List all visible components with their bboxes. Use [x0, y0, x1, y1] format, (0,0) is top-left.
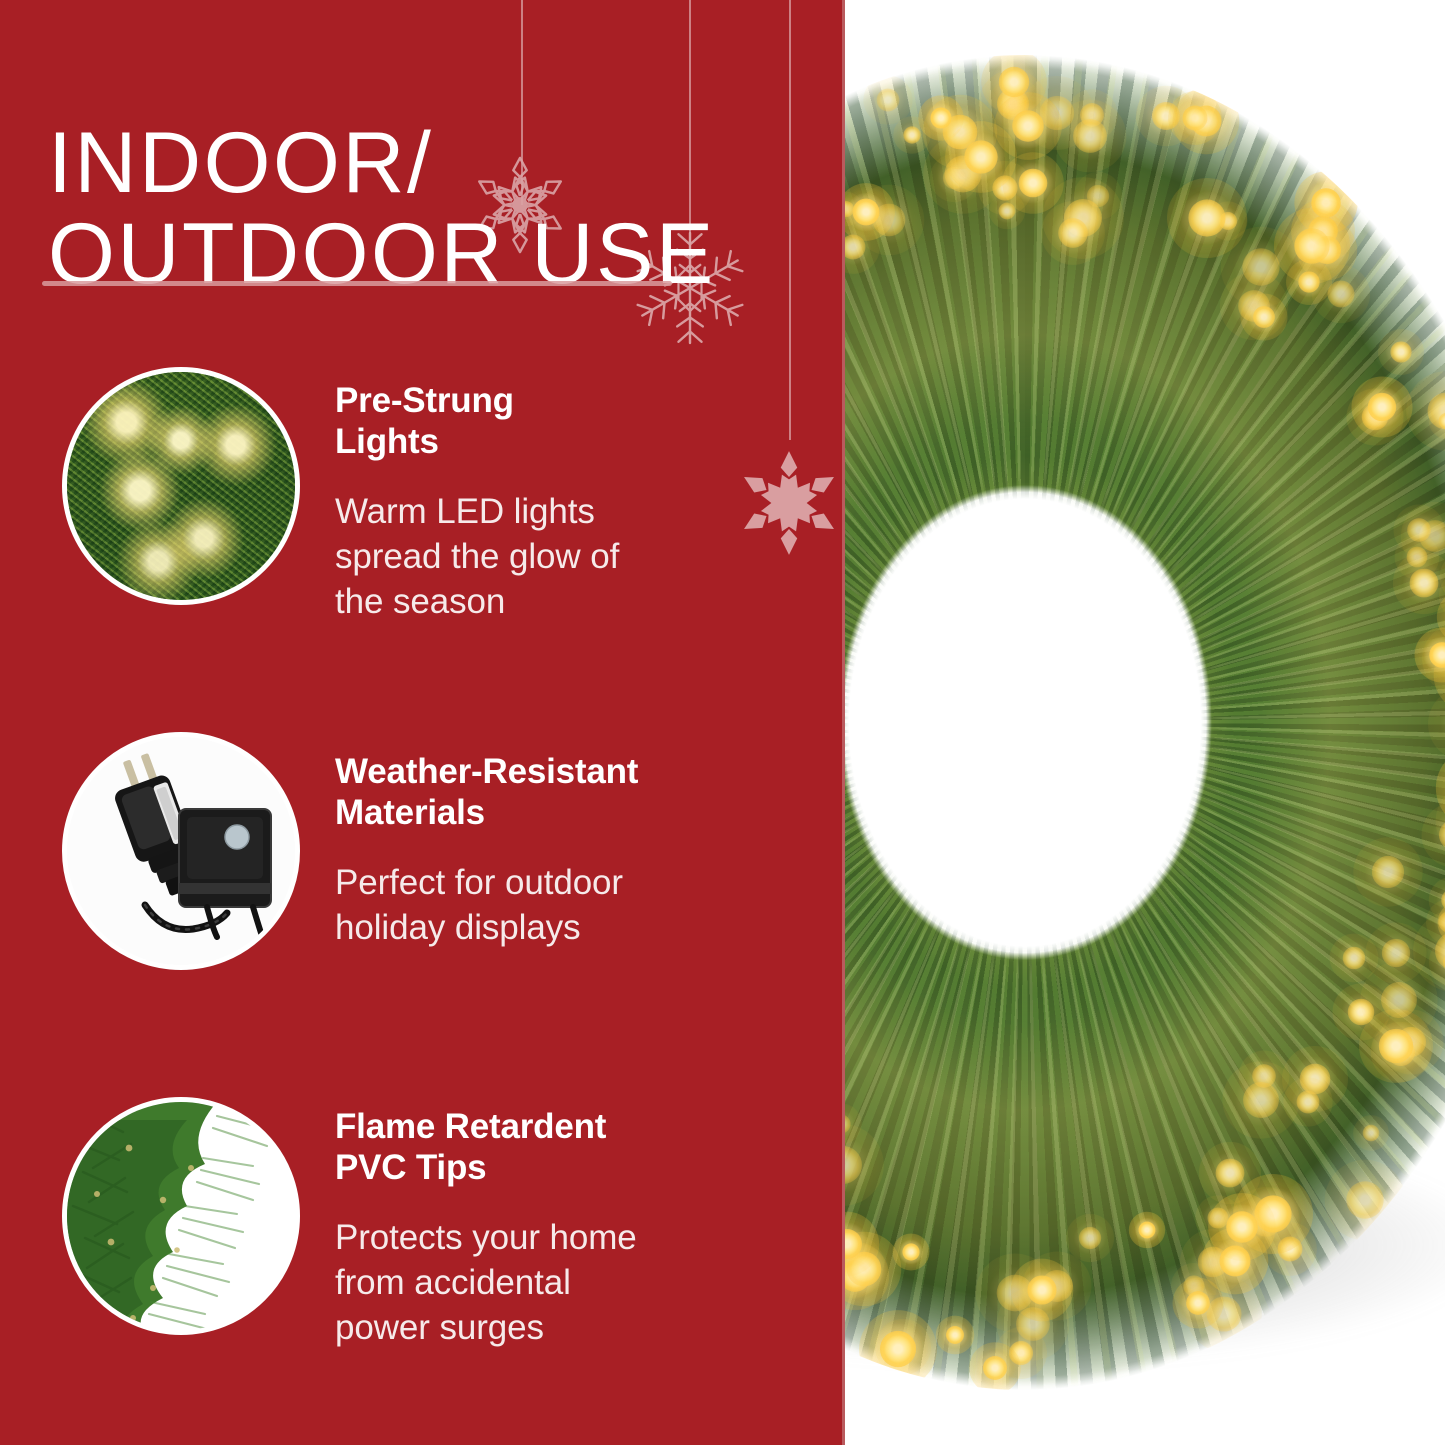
wreath-led-lights	[845, 55, 1445, 1390]
led-light	[1028, 1276, 1057, 1305]
feature-text-block: Flame Retardent PVC Tips Protects your h…	[335, 1107, 785, 1351]
led-light	[902, 1243, 919, 1260]
led-light	[1138, 1221, 1155, 1238]
feature-title: Weather-Resistant Materials	[335, 752, 785, 833]
lit-foliage-closeup-photo	[62, 367, 300, 605]
led-light	[1019, 169, 1048, 198]
led-light	[1378, 1029, 1412, 1063]
thumb-art-lit-foliage	[67, 372, 295, 600]
led-light	[1371, 856, 1403, 888]
led-light	[1328, 280, 1355, 307]
led-light	[1188, 199, 1225, 236]
page-title: INDOOR/ OUTDOOR USE	[48, 118, 818, 300]
led-light	[931, 108, 952, 129]
led-light	[880, 1331, 916, 1367]
led-light	[1182, 105, 1207, 130]
led-light	[876, 88, 899, 111]
feature-title: Pre-Strung Lights	[335, 381, 785, 462]
led-light	[852, 198, 879, 225]
led-light	[964, 141, 997, 174]
led-light	[1429, 642, 1445, 667]
feature-text-block: Pre-Strung Lights Warm LED lights spread…	[335, 381, 785, 625]
led-light	[1243, 1082, 1279, 1118]
thumb-art-pvc-tips	[67, 1102, 295, 1330]
panel-divider	[842, 0, 845, 1445]
pre-lit-christmas-wreath-photo	[845, 55, 1445, 1390]
power-adapter-and-control-box-photo	[62, 732, 300, 970]
led-light	[845, 1229, 862, 1259]
led-light	[1298, 271, 1319, 292]
led-light	[946, 1326, 964, 1344]
led-light	[1439, 413, 1445, 430]
led-light	[1296, 1090, 1319, 1113]
feature-description: Warm LED lights spread the glow of the s…	[335, 490, 785, 624]
feature-description: Protects your home from accidental power…	[335, 1216, 785, 1350]
led-light	[1368, 393, 1396, 421]
led-light	[1363, 1124, 1380, 1141]
led-light	[1253, 306, 1275, 328]
green-pvc-pine-tips-photo	[62, 1097, 300, 1335]
led-light	[1079, 1227, 1101, 1249]
led-light	[1346, 1181, 1383, 1218]
feature-text-block: Weather-Resistant Materials Perfect for …	[335, 752, 785, 951]
product-image-panel	[845, 0, 1445, 1445]
led-light	[1390, 341, 1411, 362]
led-light	[1343, 947, 1366, 970]
title-divider	[42, 281, 672, 286]
thumb-art-power-adapter	[67, 737, 295, 965]
info-panel: INDOOR/ OUTDOOR USE Pre-Strung Lights Wa…	[0, 0, 845, 1445]
feature-title: Flame Retardent PVC Tips	[335, 1107, 785, 1188]
led-light	[903, 126, 920, 143]
infographic-canvas: INDOOR/ OUTDOOR USE Pre-Strung Lights Wa…	[0, 0, 1445, 1445]
led-light	[1226, 1211, 1257, 1242]
led-light	[1410, 568, 1439, 597]
led-light	[845, 1146, 862, 1184]
led-light	[1407, 518, 1431, 542]
led-light	[1012, 110, 1043, 141]
led-light	[1187, 1291, 1211, 1315]
led-light	[1058, 218, 1088, 248]
led-light	[1215, 1158, 1244, 1187]
led-light	[1294, 228, 1329, 263]
led-light	[983, 1356, 1007, 1380]
feature-description: Perfect for outdoor holiday displays	[335, 861, 785, 951]
